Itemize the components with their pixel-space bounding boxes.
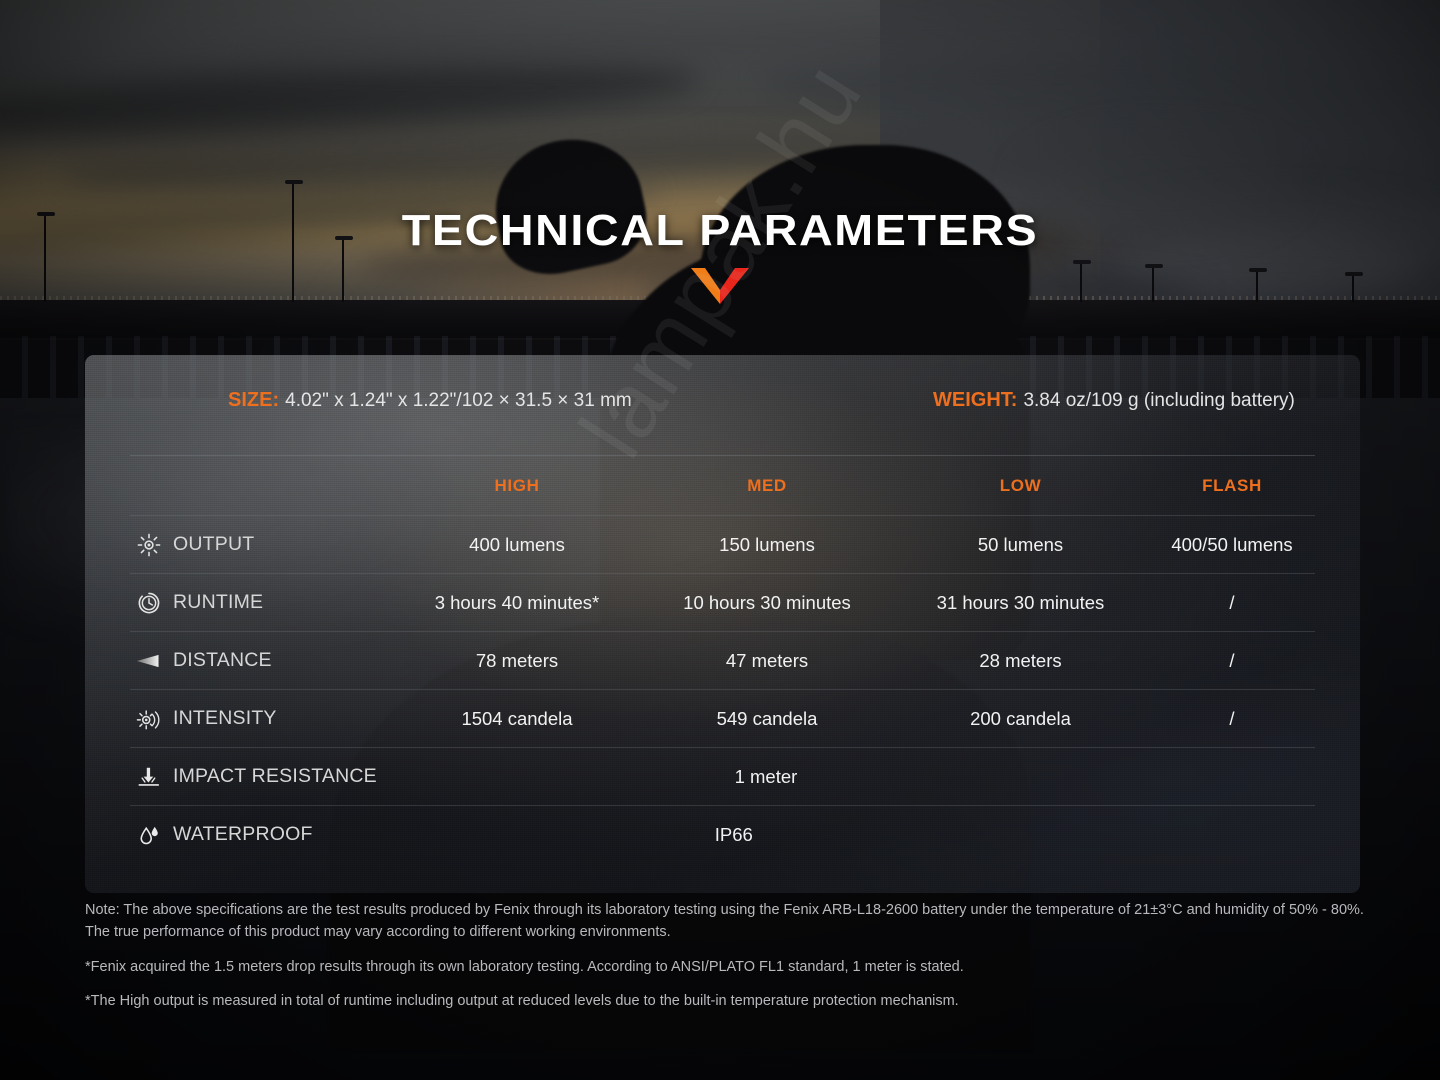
cell-output-low: 50 lumens — [892, 534, 1149, 556]
cell-runtime-high: 3 hours 40 minutes* — [392, 592, 642, 614]
footnote-high-output: *The High output is measured in total of… — [85, 991, 1365, 1013]
sun-brightness-icon — [136, 532, 162, 558]
row-label-text: WATERPROOF — [173, 823, 313, 846]
cell-distance-high: 78 meters — [392, 650, 642, 672]
cell-output-med: 150 lumens — [642, 534, 892, 556]
cell-distance-med: 47 meters — [642, 650, 892, 672]
cell-impact-resistance-value: 1 meter — [377, 766, 1315, 788]
size-spec: SIZE: 4.02" x 1.24" x 1.22"/102 × 31.5 ×… — [228, 389, 632, 412]
specifications-panel: SIZE: 4.02" x 1.24" x 1.22"/102 × 31.5 ×… — [85, 355, 1360, 893]
cell-distance-low: 28 meters — [892, 650, 1149, 672]
row-label-text: IMPACT RESISTANCE — [173, 765, 377, 788]
dimensions-row: SIZE: 4.02" x 1.24" x 1.22"/102 × 31.5 ×… — [85, 389, 1360, 423]
cell-runtime-flash: / — [1149, 592, 1315, 614]
row-label-impact-resistance: IMPACT RESISTANCE — [130, 764, 377, 790]
cell-intensity-high: 1504 candela — [392, 708, 642, 730]
column-header-low: LOW — [892, 476, 1149, 496]
sun-rays-icon — [136, 706, 162, 732]
water-drop-icon — [136, 822, 162, 848]
cell-intensity-low: 200 candela — [892, 708, 1149, 730]
cell-waterproof-value: IP66 — [313, 824, 1315, 846]
page-title: TECHNICAL PARAMETERS — [0, 208, 1440, 254]
size-value: 4.02" x 1.24" x 1.22"/102 × 31.5 × 31 mm — [285, 390, 632, 412]
row-label-text: OUTPUT — [173, 533, 254, 556]
column-header-med: MED — [642, 476, 892, 496]
cell-intensity-med: 549 candela — [642, 708, 892, 730]
row-label-text: INTENSITY — [173, 707, 277, 730]
impact-arrow-icon — [136, 764, 162, 790]
cell-intensity-flash: / — [1149, 708, 1315, 730]
row-label-distance: DISTANCE — [130, 648, 392, 674]
row-label-output: OUTPUT — [130, 532, 392, 558]
row-label-text: DISTANCE — [173, 649, 272, 672]
row-label-waterproof: WATERPROOF — [130, 822, 313, 848]
table-row: RUNTIME 3 hours 40 minutes* 10 hours 30 … — [130, 573, 1315, 631]
cell-output-high: 400 lumens — [392, 534, 642, 556]
table-row: IMPACT RESISTANCE 1 meter — [130, 747, 1315, 805]
table-row: WATERPROOF IP66 — [130, 805, 1315, 863]
row-label-text: RUNTIME — [173, 591, 263, 614]
table-row: INTENSITY 1504 candela 549 candela 200 c… — [130, 689, 1315, 747]
specifications-table: HIGH MED LOW FLASH — [130, 455, 1315, 863]
table-row: DISTANCE 78 meters 47 meters 28 meters / — [130, 631, 1315, 689]
footnote-note: Note: The above specifications are the t… — [85, 900, 1365, 944]
weight-label: WEIGHT: — [933, 389, 1017, 412]
cell-output-flash: 400/50 lumens — [1149, 534, 1315, 556]
table-header-row: HIGH MED LOW FLASH — [130, 455, 1315, 515]
cell-runtime-med: 10 hours 30 minutes — [642, 592, 892, 614]
table-row: OUTPUT 400 lumens 150 lumens 50 lumens 4… — [130, 515, 1315, 573]
title-block: TECHNICAL PARAMETERS — [0, 208, 1440, 309]
footnotes: Note: The above specifications are the t… — [85, 900, 1365, 1013]
weight-value: 3.84 oz/109 g (including battery) — [1023, 390, 1294, 412]
footnote-drop-test: *Fenix acquired the 1.5 meters drop resu… — [85, 957, 1365, 979]
size-label: SIZE: — [228, 389, 279, 412]
clock-icon — [136, 590, 162, 616]
chevron-down-icon — [691, 268, 749, 304]
cell-runtime-low: 31 hours 30 minutes — [892, 592, 1149, 614]
row-label-intensity: INTENSITY — [130, 706, 392, 732]
column-header-flash: FLASH — [1149, 476, 1315, 496]
column-header-high: HIGH — [392, 476, 642, 496]
row-label-runtime: RUNTIME — [130, 590, 392, 616]
cell-distance-flash: / — [1149, 650, 1315, 672]
weight-spec: WEIGHT: 3.84 oz/109 g (including battery… — [933, 389, 1295, 412]
beam-triangle-icon — [136, 648, 162, 674]
